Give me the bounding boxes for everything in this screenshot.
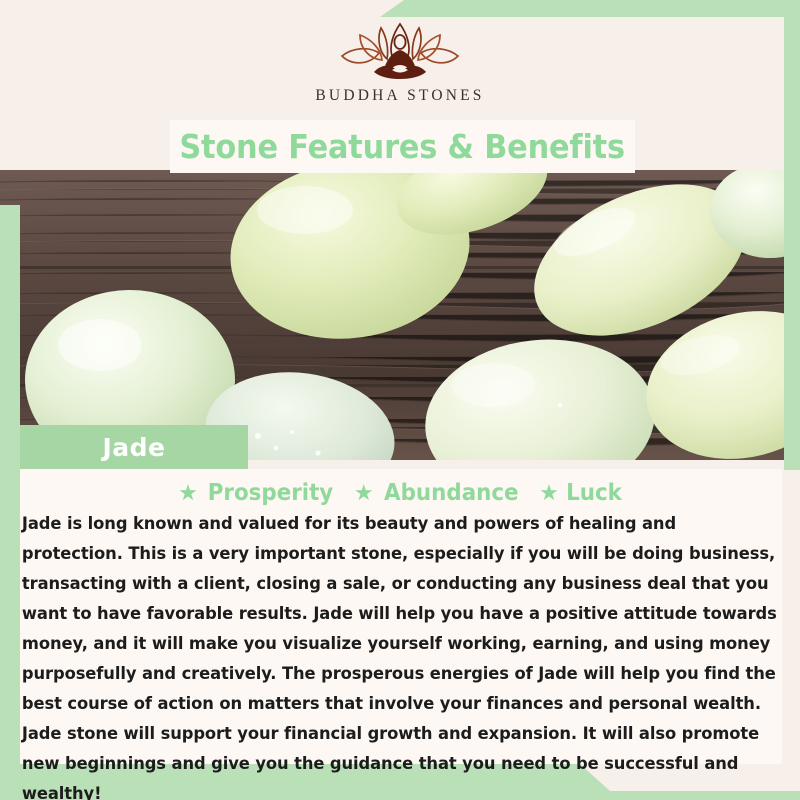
brand-name: BUDDHA STONES [315, 87, 484, 105]
benefit-label: Luck [566, 480, 622, 506]
decorative-green-strip-left [0, 205, 20, 800]
page-title-band: Stone Features & Benefits [170, 120, 635, 173]
page-title: Stone Features & Benefits [180, 127, 626, 166]
stone-info-poster: BUDDHA STONES Stone Features & Benefits [0, 0, 800, 800]
stone-name: Jade [102, 433, 165, 462]
stone-name-band: Jade [20, 425, 248, 469]
jade-stones-photo [0, 170, 800, 460]
benefit-item-prosperity: ★ Prosperity [178, 480, 338, 506]
lotus-meditation-icon [334, 22, 466, 80]
benefit-label: Prosperity [208, 480, 334, 506]
benefit-item-abundance: ★ Abundance [354, 480, 523, 506]
benefits-row: ★ Prosperity ★ Abundance ★ Luck [20, 469, 782, 509]
stone-content-panel: ★ Prosperity ★ Abundance ★ Luck Jade is … [20, 469, 782, 764]
stone-description: Jade is long known and valued for its be… [20, 509, 782, 800]
benefit-item-luck: ★ Luck [539, 480, 624, 506]
brand-header: BUDDHA STONES [0, 0, 800, 120]
star-icon: ★ [354, 482, 374, 504]
star-icon: ★ [178, 482, 198, 504]
benefit-label: Abundance [384, 480, 518, 506]
star-icon: ★ [539, 482, 559, 504]
